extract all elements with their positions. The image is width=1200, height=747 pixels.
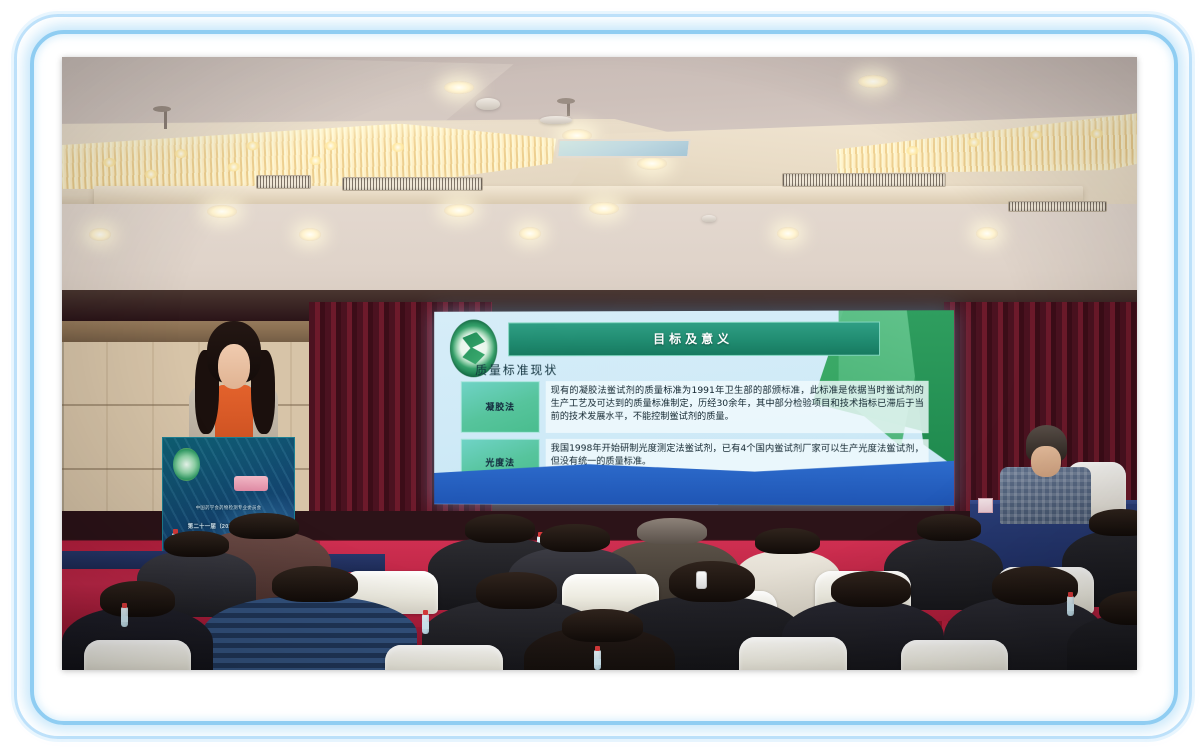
- audience-person-head: [637, 518, 707, 544]
- audience-person-head: [562, 609, 643, 642]
- conference-photo: 目标及意义 质量标准现状 凝胶法 现有的凝胶法鲎试剂的质量标准为1991年卫生部…: [62, 57, 1137, 670]
- audience-person-head: [100, 581, 175, 617]
- air-vent: [782, 173, 945, 187]
- slide-row: 凝胶法 现有的凝胶法鲎试剂的质量标准为1991年卫生部的部颁标准，此标准是依据当…: [461, 381, 929, 433]
- audience-person-head: [540, 524, 610, 552]
- smoke-detector-icon: [702, 215, 716, 222]
- audience-person-head: [831, 571, 912, 607]
- audience-person-head: [1089, 509, 1137, 535]
- audience-person-head: [476, 572, 557, 608]
- chandelier-hook-disc: [557, 98, 575, 104]
- hair-clip: [696, 571, 707, 589]
- slide-row-body: 现有的凝胶法鲎试剂的质量标准为1991年卫生部的部颁标准，此标准是依据当时鲎试剂…: [546, 381, 929, 433]
- recessed-downlight: [519, 227, 541, 240]
- audience-area: [62, 505, 1137, 671]
- recessed-downlight: [207, 205, 237, 218]
- recessed-downlight: [299, 228, 321, 241]
- audience-person-head: [465, 514, 535, 542]
- recessed-downlight: [858, 75, 888, 88]
- speaker-person: [186, 321, 283, 456]
- audience-person-head: [669, 561, 755, 602]
- slide-title-bar: 目标及意义: [508, 322, 879, 357]
- slide-title: 目标及意义: [653, 331, 733, 348]
- recessed-downlight: [976, 227, 998, 240]
- podium-microphone-icon: [234, 476, 268, 491]
- air-vent: [342, 177, 484, 191]
- audience-person-head: [917, 514, 982, 540]
- slide-row-label: 凝胶法: [461, 381, 540, 433]
- slide-subheading: 质量标准现状: [475, 362, 558, 379]
- conference-emblem-icon: [173, 448, 199, 481]
- audience-chair: [385, 645, 503, 670]
- audience-person-head: [229, 513, 299, 539]
- audience-person-head: [755, 528, 820, 554]
- chandelier-hook-disc: [153, 106, 171, 112]
- audience-person-head: [272, 566, 358, 602]
- air-vent: [1008, 201, 1107, 212]
- panelist-person: [1008, 425, 1083, 517]
- panelist-face: [1031, 446, 1061, 477]
- audience-chair: [901, 640, 1009, 670]
- water-bottle: [594, 650, 601, 670]
- screenshot-canvas: 目标及意义 质量标准现状 凝胶法 现有的凝胶法鲎试剂的质量标准为1991年卫生部…: [0, 0, 1200, 747]
- audience-person-head: [992, 566, 1078, 606]
- water-bottle: [121, 607, 128, 627]
- recessed-downlight: [444, 204, 474, 217]
- audience-chair: [84, 640, 192, 670]
- water-bottle: [422, 614, 429, 634]
- projection-screen: 目标及意义 质量标准现状 凝胶法 现有的凝胶法鲎试剂的质量标准为1991年卫生部…: [434, 311, 954, 506]
- air-vent: [256, 175, 312, 189]
- audience-chair: [739, 637, 847, 670]
- speaker-face: [218, 344, 251, 390]
- audience-person-head: [164, 531, 229, 557]
- ceiling: [62, 57, 1137, 314]
- smoke-detector-icon: [476, 98, 500, 110]
- recessed-downlight: [777, 227, 799, 240]
- water-bottle: [1067, 596, 1074, 616]
- ceiling-skylight-panel: [555, 139, 690, 158]
